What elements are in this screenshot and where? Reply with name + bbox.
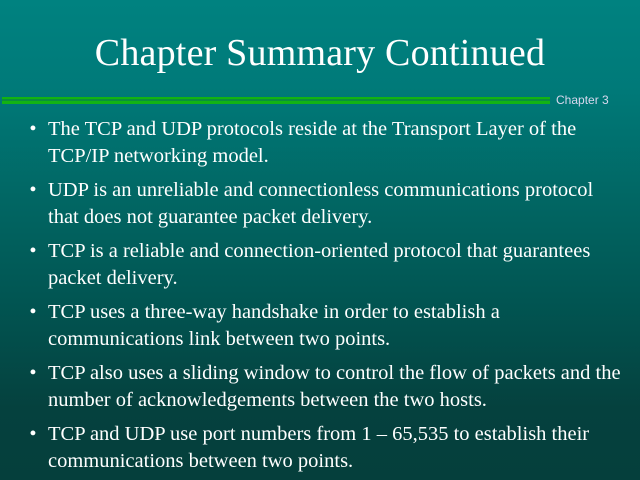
green-divider-rule bbox=[2, 97, 550, 105]
list-item: • TCP uses a three-way handshake in orde… bbox=[18, 299, 624, 353]
list-item: • TCP is a reliable and connection-orien… bbox=[18, 238, 624, 292]
rule-stripe-bright-lower bbox=[2, 101, 550, 104]
bullet-dot-icon: • bbox=[26, 421, 40, 448]
list-item: • TCP also uses a sliding window to cont… bbox=[18, 360, 624, 414]
bullet-dot-icon: • bbox=[26, 360, 40, 387]
title-divider-row: Chapter 3 bbox=[0, 93, 640, 109]
chapter-label: Chapter 3 bbox=[556, 93, 609, 107]
bullet-dot-icon: • bbox=[26, 299, 40, 326]
bullet-dot-icon: • bbox=[26, 116, 40, 143]
list-item-text: TCP is a reliable and connection-oriente… bbox=[48, 238, 624, 292]
bullet-dot-icon: • bbox=[26, 238, 40, 265]
list-item: • The TCP and UDP protocols reside at th… bbox=[18, 116, 624, 170]
list-item: • UDP is an unreliable and connectionles… bbox=[18, 177, 624, 231]
list-item-text: The TCP and UDP protocols reside at the … bbox=[48, 116, 624, 170]
list-item-text: TCP uses a three-way handshake in order … bbox=[48, 299, 624, 353]
presentation-slide: Chapter Summary Continued Chapter 3 • Th… bbox=[0, 0, 640, 480]
slide-title-area: Chapter Summary Continued bbox=[0, 30, 640, 76]
list-item: • TCP and UDP use port numbers from 1 – … bbox=[18, 421, 624, 475]
list-item-text: UDP is an unreliable and connectionless … bbox=[48, 177, 624, 231]
bullet-dot-icon: • bbox=[26, 177, 40, 204]
list-item-text: TCP and UDP use port numbers from 1 – 65… bbox=[48, 421, 624, 475]
slide-body: • The TCP and UDP protocols reside at th… bbox=[18, 116, 624, 480]
list-item-text: TCP also uses a sliding window to contro… bbox=[48, 360, 624, 414]
page-title: Chapter Summary Continued bbox=[95, 30, 545, 76]
